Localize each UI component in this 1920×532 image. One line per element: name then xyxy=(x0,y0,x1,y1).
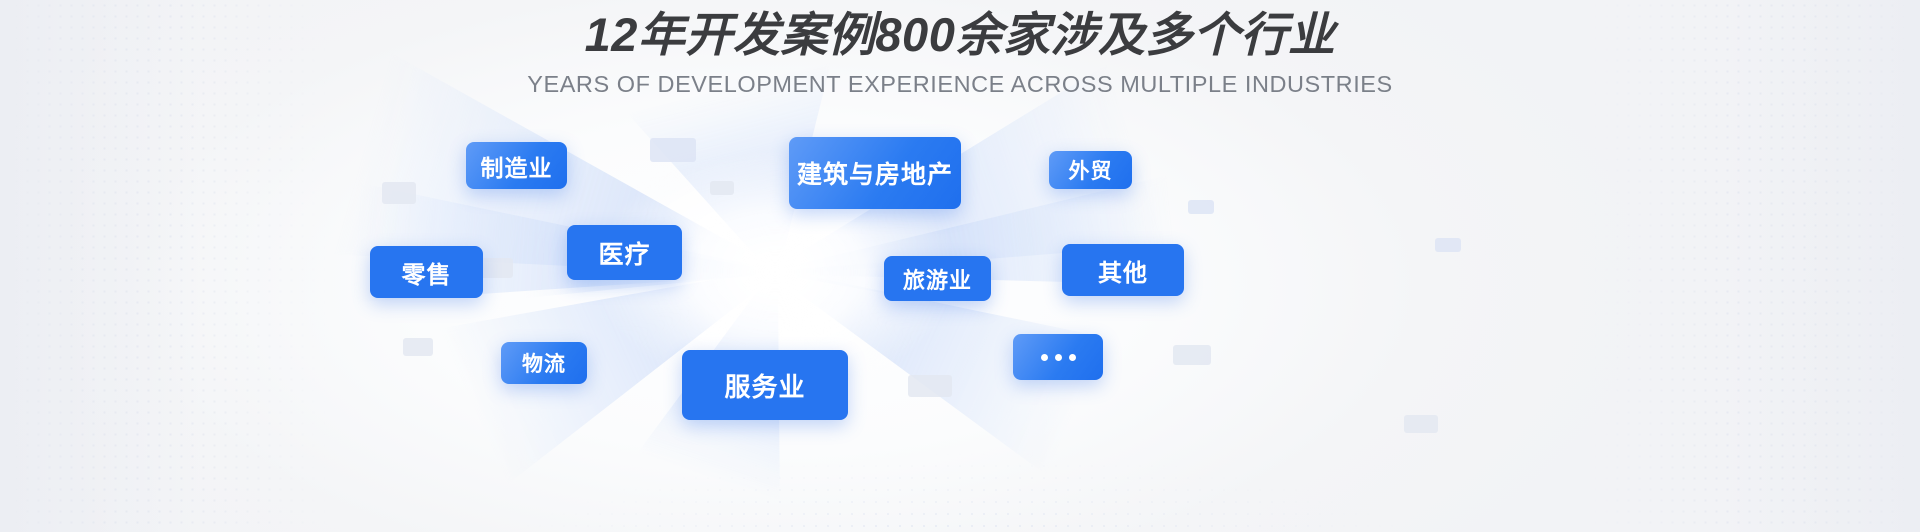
tag-label: 零售 xyxy=(402,255,452,290)
decor-square xyxy=(1404,415,1438,433)
tag-others[interactable]: 其他 xyxy=(1062,244,1184,296)
industry-banner: 12年开发案例800余家涉及多个行业 YEARS OF DEVELOPMENT … xyxy=(0,0,1920,532)
ellipsis-icon xyxy=(1041,354,1076,361)
tag-construction-real-estate[interactable]: 建筑与房地产 xyxy=(789,137,961,209)
tag-logistics[interactable]: 物流 xyxy=(501,342,587,384)
decor-square xyxy=(382,182,416,204)
tag-more-ellipsis[interactable] xyxy=(1013,334,1103,380)
tag-label: 外贸 xyxy=(1069,155,1113,185)
tag-label: 其他 xyxy=(1098,253,1148,288)
tag-manufacturing[interactable]: 制造业 xyxy=(466,142,567,189)
tag-label: 服务业 xyxy=(724,367,805,404)
decor-square xyxy=(1173,345,1211,365)
page-title: 12年开发案例800余家涉及多个行业 xyxy=(0,8,1920,62)
decor-square xyxy=(403,338,433,356)
tag-retail[interactable]: 零售 xyxy=(370,246,483,298)
tag-service-industry[interactable]: 服务业 xyxy=(682,350,848,420)
decor-square xyxy=(650,138,696,162)
tag-label: 物流 xyxy=(522,348,566,378)
decor-square xyxy=(908,375,952,397)
tag-label: 制造业 xyxy=(481,149,553,183)
page-subtitle: YEARS OF DEVELOPMENT EXPERIENCE ACROSS M… xyxy=(0,71,1920,98)
banner-heading-block: 12年开发案例800余家涉及多个行业 YEARS OF DEVELOPMENT … xyxy=(0,8,1920,98)
tag-label: 旅游业 xyxy=(903,263,972,295)
tag-foreign-trade[interactable]: 外贸 xyxy=(1049,151,1132,189)
tag-tourism[interactable]: 旅游业 xyxy=(884,256,991,301)
decor-square xyxy=(1435,238,1461,252)
decor-square xyxy=(710,181,734,195)
tag-healthcare[interactable]: 医疗 xyxy=(567,225,682,280)
tag-label: 建筑与房地产 xyxy=(797,155,953,191)
decor-square xyxy=(1188,200,1214,214)
tag-label: 医疗 xyxy=(598,235,650,271)
